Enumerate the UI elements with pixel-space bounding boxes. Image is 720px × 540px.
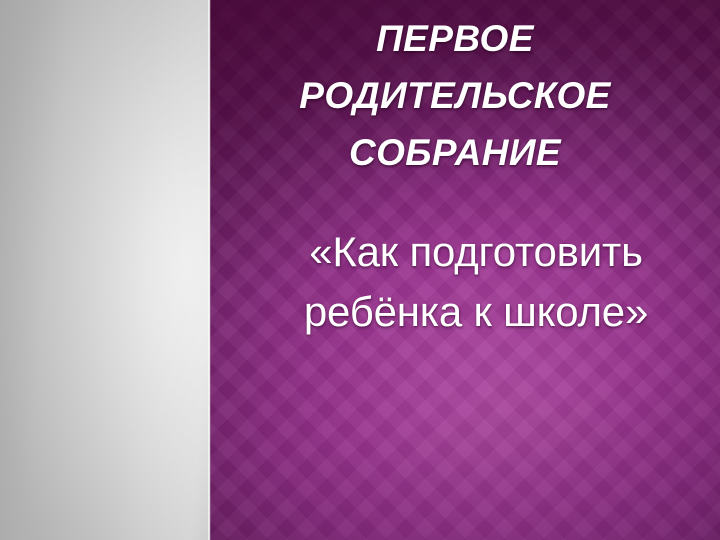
slide-title: ПЕРВОЕ РОДИТЕЛЬСКОЕ СОБРАНИЕ	[200, 10, 710, 181]
slide-title-line-1: ПЕРВОЕ	[200, 10, 710, 67]
slide-title-line-3: СОБРАНИЕ	[200, 124, 710, 181]
left-grey-panel	[0, 0, 210, 540]
slide-title-line-2: РОДИТЕЛЬСКОЕ	[200, 67, 710, 124]
slide-subtitle: «Как подготовить ребёнка к школе»	[226, 222, 720, 342]
slide-subtitle-line-2: ребёнка к школе»	[226, 282, 720, 342]
slide-text-container: ПЕРВОЕ РОДИТЕЛЬСКОЕ СОБРАНИЕ «Как подгот…	[210, 0, 720, 540]
slide-subtitle-line-1: «Как подготовить	[226, 222, 720, 282]
presentation-slide: ПЕРВОЕ РОДИТЕЛЬСКОЕ СОБРАНИЕ «Как подгот…	[0, 0, 720, 540]
grey-panel-sheen	[0, 0, 210, 540]
